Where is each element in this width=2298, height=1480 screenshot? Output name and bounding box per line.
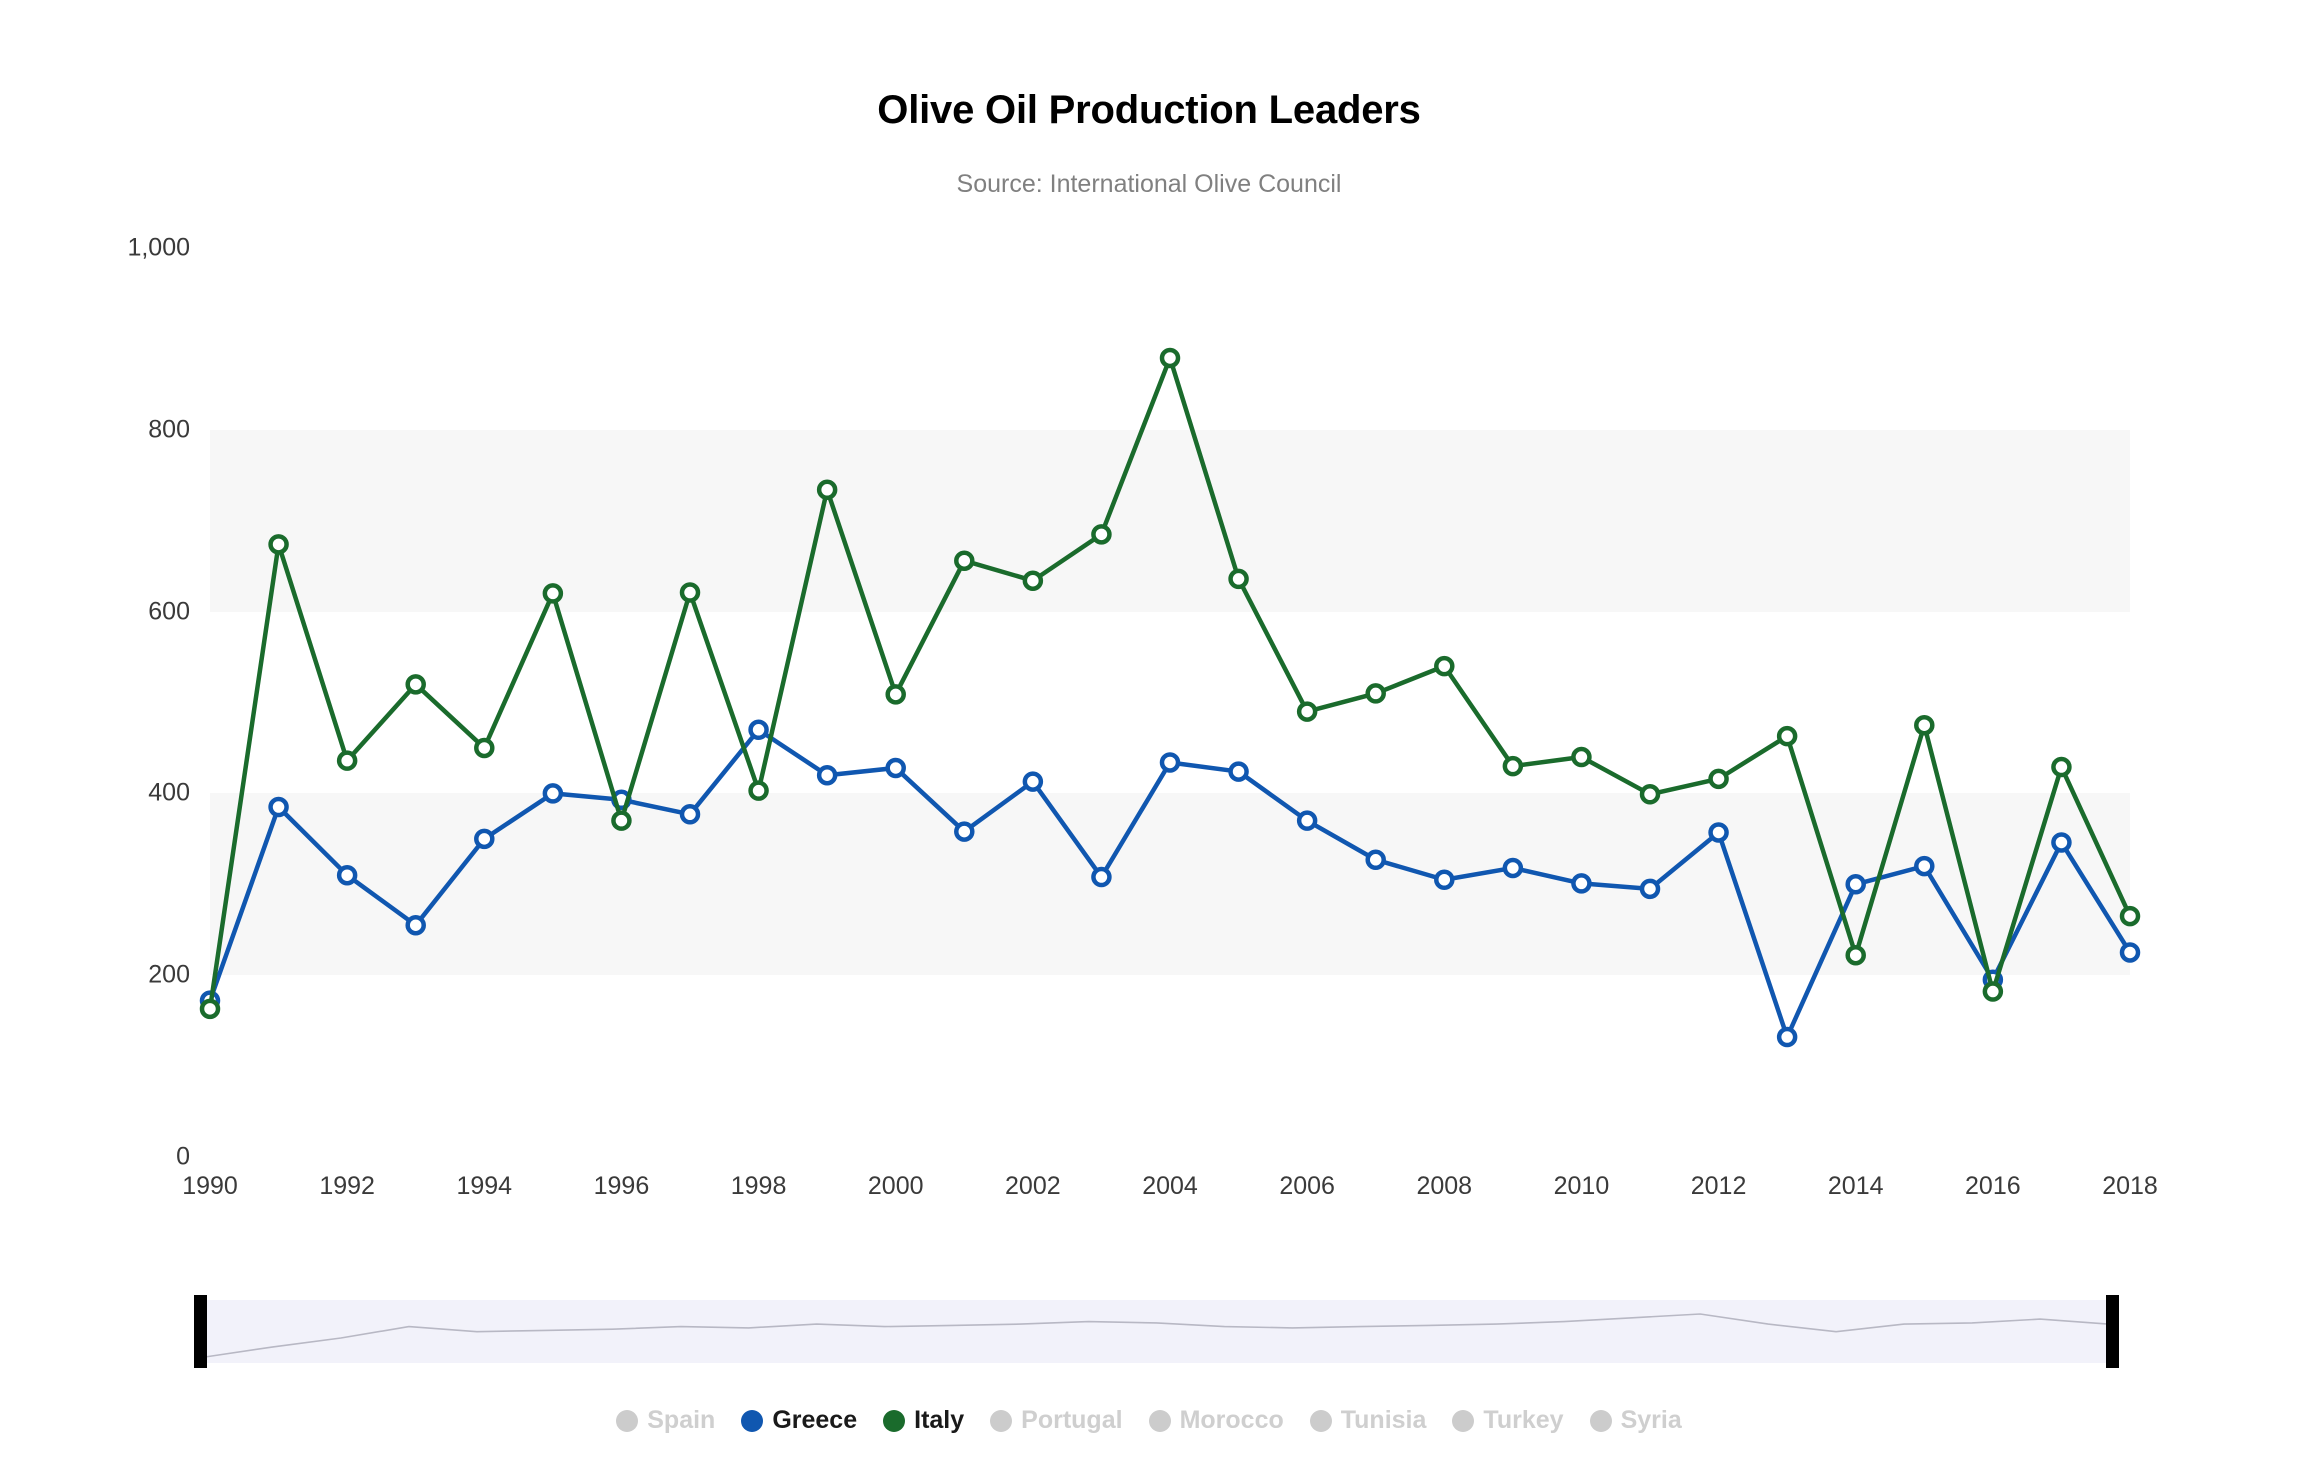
data-point[interactable] <box>408 676 424 692</box>
y-axis-tick-label: 0 <box>70 1143 190 1172</box>
data-point[interactable] <box>1848 876 1864 892</box>
data-point[interactable] <box>1779 1029 1795 1045</box>
x-axis-tick-label: 1998 <box>731 1172 787 1201</box>
data-point[interactable] <box>1916 717 1932 733</box>
data-point[interactable] <box>1162 350 1178 366</box>
data-point[interactable] <box>956 824 972 840</box>
data-point[interactable] <box>819 767 835 783</box>
legend-marker-icon <box>883 1410 905 1432</box>
legend-item-morocco[interactable]: Morocco <box>1136 1406 1297 1435</box>
legend-item-syria[interactable]: Syria <box>1577 1406 1695 1435</box>
navigator-area <box>205 1314 2108 1363</box>
legend-item-label: Italy <box>914 1406 964 1435</box>
legend-item-italy[interactable]: Italy <box>870 1406 977 1435</box>
page-title: Olive Oil Production Leaders <box>0 88 2298 133</box>
x-axis-tick-label: 2018 <box>2102 1172 2158 1201</box>
data-point[interactable] <box>682 585 698 601</box>
x-axis-tick-label: 1992 <box>319 1172 375 1201</box>
x-axis-tick-label: 2010 <box>1554 1172 1610 1201</box>
y-axis: 02004006008001,000 <box>60 248 190 1157</box>
chart-subtitle: Source: International Olive Council <box>0 170 2298 199</box>
legend-item-label: Morocco <box>1180 1406 1284 1435</box>
x-axis-tick-label: 2000 <box>868 1172 924 1201</box>
data-point[interactable] <box>1505 758 1521 774</box>
data-point[interactable] <box>545 585 561 601</box>
data-point[interactable] <box>819 482 835 498</box>
series-italy <box>202 350 2138 1017</box>
navigator-handle-left[interactable] <box>194 1295 207 1368</box>
data-point[interactable] <box>682 806 698 822</box>
legend-item-turkey[interactable]: Turkey <box>1439 1406 1576 1435</box>
legend-marker-icon <box>1149 1410 1171 1432</box>
data-point[interactable] <box>1368 685 1384 701</box>
legend-marker-icon <box>1452 1410 1474 1432</box>
x-axis-tick-label: 1990 <box>182 1172 238 1201</box>
data-point[interactable] <box>202 1001 218 1017</box>
data-point[interactable] <box>476 831 492 847</box>
data-point[interactable] <box>339 753 355 769</box>
navigator-sparkline <box>205 1300 2108 1363</box>
x-axis-tick-label: 2006 <box>1279 1172 1335 1201</box>
y-axis-tick-label: 200 <box>70 961 190 990</box>
legend-marker-icon <box>990 1410 1012 1432</box>
data-point[interactable] <box>1916 858 1932 874</box>
y-axis-tick-label: 800 <box>70 415 190 444</box>
data-point[interactable] <box>1299 704 1315 720</box>
data-point[interactable] <box>1642 786 1658 802</box>
data-point[interactable] <box>888 760 904 776</box>
data-point[interactable] <box>1711 771 1727 787</box>
data-point[interactable] <box>408 917 424 933</box>
legend-item-label: Portugal <box>1021 1406 1122 1435</box>
legend-marker-icon <box>741 1410 763 1432</box>
navigator-track[interactable] <box>205 1300 2108 1363</box>
data-point[interactable] <box>1985 984 2001 1000</box>
plot-area <box>210 248 2130 1157</box>
data-point[interactable] <box>339 867 355 883</box>
range-navigator[interactable] <box>205 1300 2108 1363</box>
data-point[interactable] <box>1436 658 1452 674</box>
data-point[interactable] <box>1779 728 1795 744</box>
data-point[interactable] <box>1093 526 1109 542</box>
data-point[interactable] <box>1162 754 1178 770</box>
data-point[interactable] <box>1299 813 1315 829</box>
legend: SpainGreeceItalyPortugalMoroccoTunisiaTu… <box>0 1406 2298 1435</box>
navigator-handle-right[interactable] <box>2106 1295 2119 1368</box>
legend-marker-icon <box>1310 1410 1332 1432</box>
y-axis-tick-label: 1,000 <box>70 234 190 263</box>
data-point[interactable] <box>2053 834 2069 850</box>
data-point[interactable] <box>271 536 287 552</box>
series-canvas <box>210 248 2130 1157</box>
data-point[interactable] <box>1025 573 1041 589</box>
data-point[interactable] <box>956 553 972 569</box>
x-axis-tick-label: 2012 <box>1691 1172 1747 1201</box>
x-axis-tick-label: 2008 <box>1416 1172 1472 1201</box>
chart-page: Olive Oil Production Leaders Source: Int… <box>0 0 2298 1480</box>
data-point[interactable] <box>1025 774 1041 790</box>
data-point[interactable] <box>1573 749 1589 765</box>
data-point[interactable] <box>1505 860 1521 876</box>
data-point[interactable] <box>1573 875 1589 891</box>
series-greece <box>202 722 2138 1045</box>
data-point[interactable] <box>751 783 767 799</box>
data-point[interactable] <box>1711 824 1727 840</box>
data-point[interactable] <box>1231 764 1247 780</box>
x-axis-tick-label: 2004 <box>1142 1172 1198 1201</box>
legend-item-portugal[interactable]: Portugal <box>977 1406 1135 1435</box>
legend-marker-icon <box>1590 1410 1612 1432</box>
y-axis-tick-label: 400 <box>70 779 190 808</box>
legend-item-label: Tunisia <box>1341 1406 1427 1435</box>
legend-item-label: Greece <box>772 1406 857 1435</box>
x-axis-tick-label: 2014 <box>1828 1172 1884 1201</box>
data-point[interactable] <box>476 740 492 756</box>
data-point[interactable] <box>2053 759 2069 775</box>
legend-item-label: Spain <box>647 1406 715 1435</box>
data-point[interactable] <box>1642 881 1658 897</box>
data-point[interactable] <box>1093 869 1109 885</box>
x-axis-tick-label: 1996 <box>594 1172 650 1201</box>
legend-item-label: Turkey <box>1483 1406 1563 1435</box>
series-line <box>210 730 2130 1037</box>
data-point[interactable] <box>613 813 629 829</box>
data-point[interactable] <box>545 785 561 801</box>
data-point[interactable] <box>271 799 287 815</box>
x-axis-tick-label: 2002 <box>1005 1172 1061 1201</box>
x-axis: 1990199219941996199820002002200420062008… <box>210 1172 2130 1212</box>
series-line <box>210 358 2130 1009</box>
legend-item-spain[interactable]: Spain <box>603 1406 728 1435</box>
data-point[interactable] <box>888 686 904 702</box>
y-axis-tick-label: 600 <box>70 597 190 626</box>
legend-item-greece[interactable]: Greece <box>728 1406 870 1435</box>
data-point[interactable] <box>1436 872 1452 888</box>
x-axis-tick-label: 1994 <box>456 1172 512 1201</box>
data-point[interactable] <box>1848 947 1864 963</box>
data-point[interactable] <box>1231 571 1247 587</box>
legend-item-tunisia[interactable]: Tunisia <box>1297 1406 1440 1435</box>
data-point[interactable] <box>1368 852 1384 868</box>
data-point[interactable] <box>2122 944 2138 960</box>
legend-item-label: Syria <box>1621 1406 1682 1435</box>
data-point[interactable] <box>751 722 767 738</box>
legend-marker-icon <box>616 1410 638 1432</box>
data-point[interactable] <box>2122 908 2138 924</box>
x-axis-tick-label: 2016 <box>1965 1172 2021 1201</box>
